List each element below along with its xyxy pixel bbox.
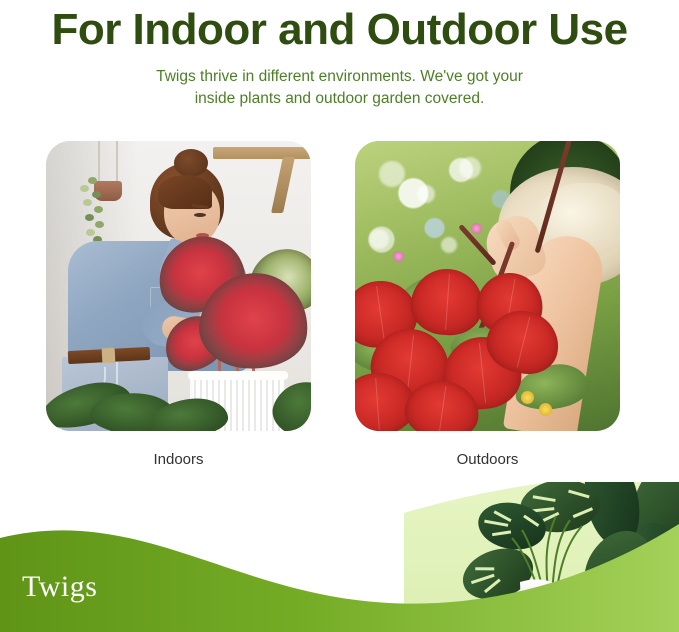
woman-eye (194, 213, 206, 217)
wall-shelf (213, 147, 311, 159)
white-pot-rim (188, 371, 288, 380)
card-indoors[interactable]: Indoors (46, 141, 311, 431)
pink-flower-2 (471, 223, 482, 234)
card-outdoors[interactable]: Outdoors (355, 141, 620, 431)
photo-indoors[interactable] (46, 141, 311, 431)
header-block: For Indoor and Outdoor Use Twigs thrive … (0, 0, 679, 110)
brand-logo[interactable]: Twigs (22, 570, 97, 604)
bokeh-1 (379, 161, 405, 187)
bokeh-4 (369, 229, 389, 249)
yellow-flower-1 (521, 391, 534, 404)
yellow-flower-2 (539, 403, 552, 416)
woman-hair-front (158, 175, 212, 209)
footer-banner: Twigs (0, 482, 679, 632)
bokeh-2 (417, 185, 435, 203)
bokeh-5 (441, 237, 457, 253)
caption-outdoors: Outdoors (355, 451, 620, 468)
photo-outdoors[interactable] (355, 141, 620, 431)
page-subtitle-line-1: Twigs thrive in different environments. … (130, 66, 550, 88)
woman-hair-bun (174, 149, 208, 177)
bokeh-3 (459, 157, 481, 179)
pink-flower-1 (393, 251, 404, 262)
caption-indoors: Indoors (46, 451, 311, 468)
footer-wave-graphic (0, 482, 679, 632)
cards-row: Indoors (0, 141, 679, 486)
page-subtitle: Twigs thrive in different environments. … (130, 66, 550, 110)
page-title: For Indoor and Outdoor Use (0, 0, 679, 56)
belt-buckle (102, 348, 116, 364)
page-subtitle-line-2: inside plants and outdoor garden covered… (130, 88, 550, 110)
